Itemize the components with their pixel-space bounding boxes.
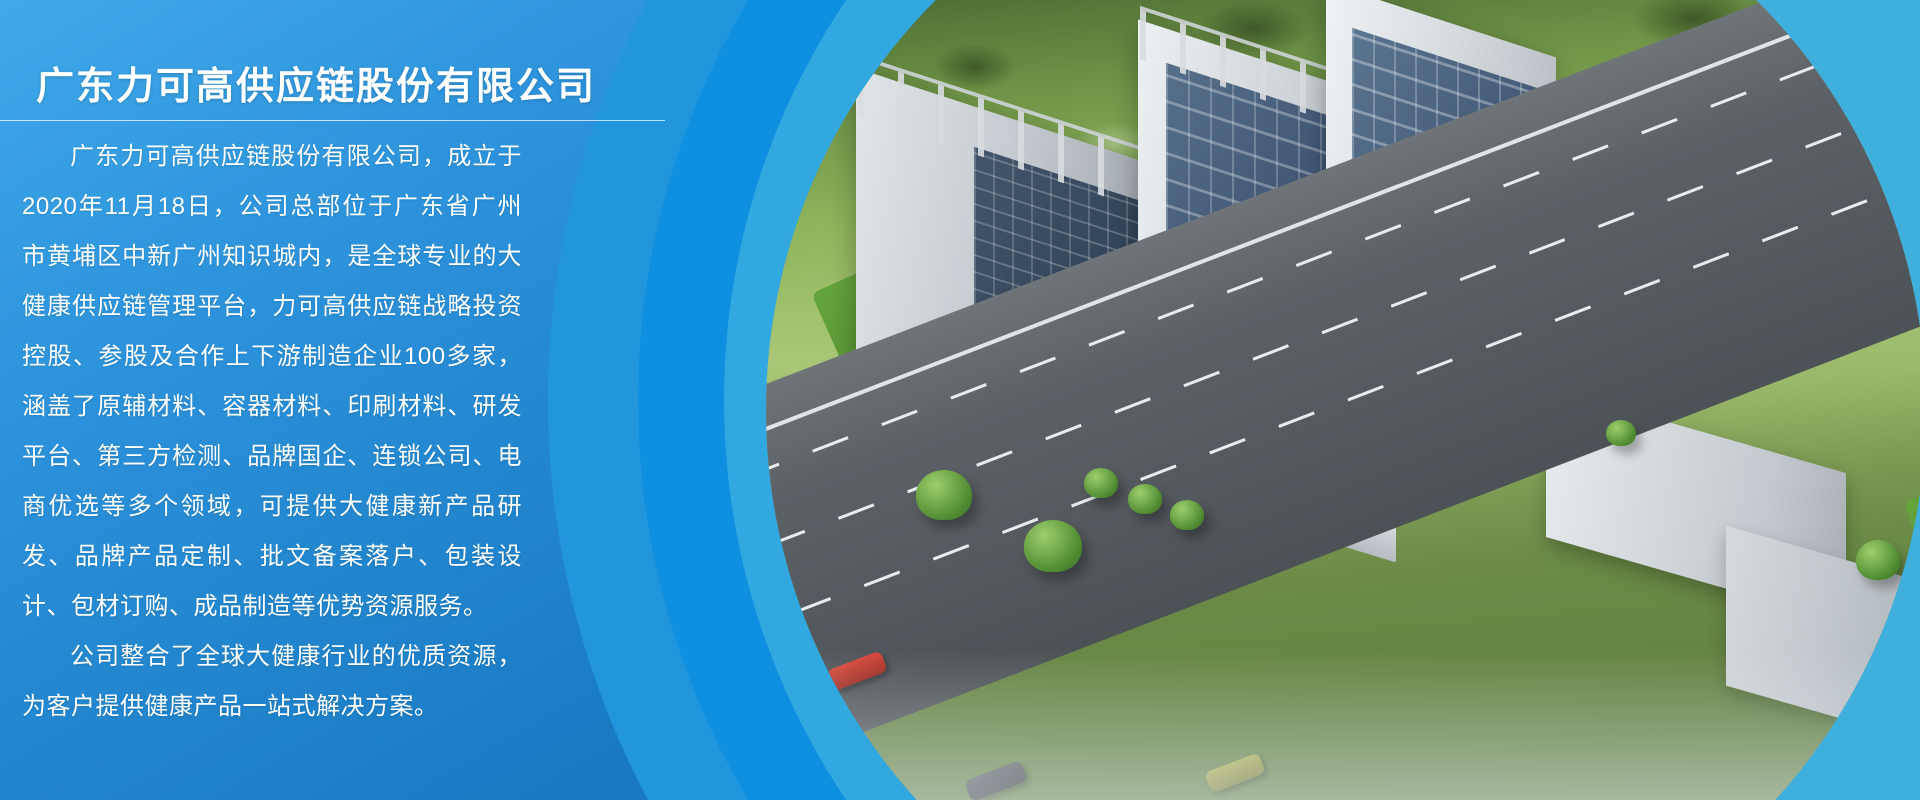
tree-5 [1170, 500, 1204, 530]
company-profile-banner: 知识城医药产业园 广东力可高供应链股份有限公司 [0, 0, 1920, 800]
bottom-haze-overlay [766, 650, 1920, 800]
paragraph-1: 广东力可高供应链股份有限公司，成立于2020年11月18日，公司总部位于广东省广… [22, 132, 522, 632]
tree-8 [1606, 420, 1636, 446]
tree-3 [1084, 468, 1118, 498]
company-description: 广东力可高供应链股份有限公司，成立于2020年11月18日，公司总部位于广东省广… [22, 132, 522, 732]
tree-1 [916, 470, 972, 520]
tree-7 [1856, 540, 1900, 580]
paragraph-2: 公司整合了全球大健康行业的优质资源，为客户提供健康产品一站式解决方案。 [22, 632, 522, 732]
tree-4 [1128, 484, 1162, 514]
text-panel: 广东力可高供应链股份有限公司 广东力可高供应链股份有限公司，成立于2020年11… [0, 0, 700, 800]
title-underline-rule [0, 120, 665, 121]
facility-aerial-photo: 知识城医药产业园 [766, 0, 1920, 800]
page-title: 广东力可高供应链股份有限公司 [36, 55, 596, 110]
tree-2 [1024, 520, 1082, 572]
facility-photo-circle-mask: 知识城医药产业园 [766, 0, 1920, 800]
